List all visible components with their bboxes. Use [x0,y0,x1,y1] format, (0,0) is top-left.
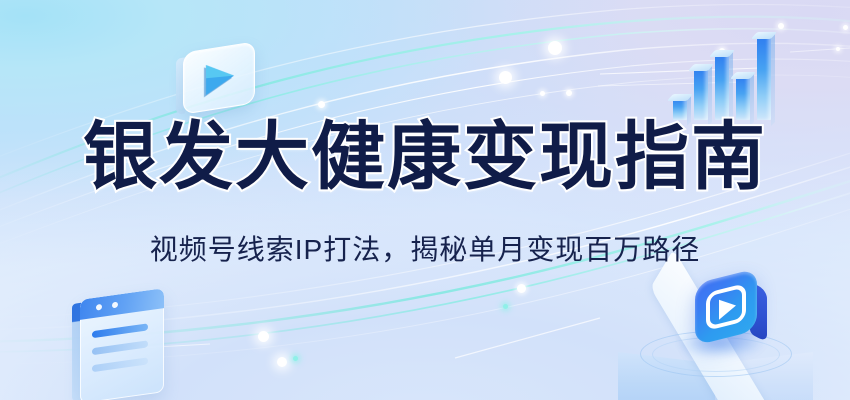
glow-dot [258,331,269,342]
glow-dot [277,357,287,367]
bar-column [757,36,771,120]
window-content-line-2 [92,340,148,355]
glow-dot [499,71,512,84]
page-title: 银发大健康变现指南 [0,120,850,194]
bar-chart-bar [736,72,750,120]
glow-dot [548,41,562,55]
window-card-body [80,288,164,400]
bar-chart-bar [715,50,729,120]
glow-dot [293,356,298,361]
bar-column [694,68,708,120]
glow-dot [503,304,508,309]
bar-edge [771,34,775,126]
window-card-titlebar [80,288,164,320]
glow-dot [540,91,545,96]
glow-dot [836,47,840,51]
video-icon-triangle [719,296,736,320]
promo-banner: 银发大健康变现指南 视频号线索IP打法，揭秘单月变现百万路径 [0,0,850,400]
bar-chart-bar [694,64,708,120]
video-icon-face [695,268,757,345]
play-triangle-icon [183,41,255,114]
page-subtitle: 视频号线索IP打法，揭秘单月变现百万路径 [0,228,850,268]
glow-dot [318,101,325,108]
glow-dot [843,25,848,30]
glow-dot [517,284,526,293]
browser-window-icon [80,288,164,400]
glow-dot [566,90,572,96]
video-play-icon [695,276,773,348]
bar-chart-bar [757,32,771,120]
bar-chart-icon [673,28,781,120]
bar-column [715,54,729,120]
window-content-line-1 [92,323,148,338]
window-content-line-3 [92,357,148,372]
bar-column [736,76,750,120]
